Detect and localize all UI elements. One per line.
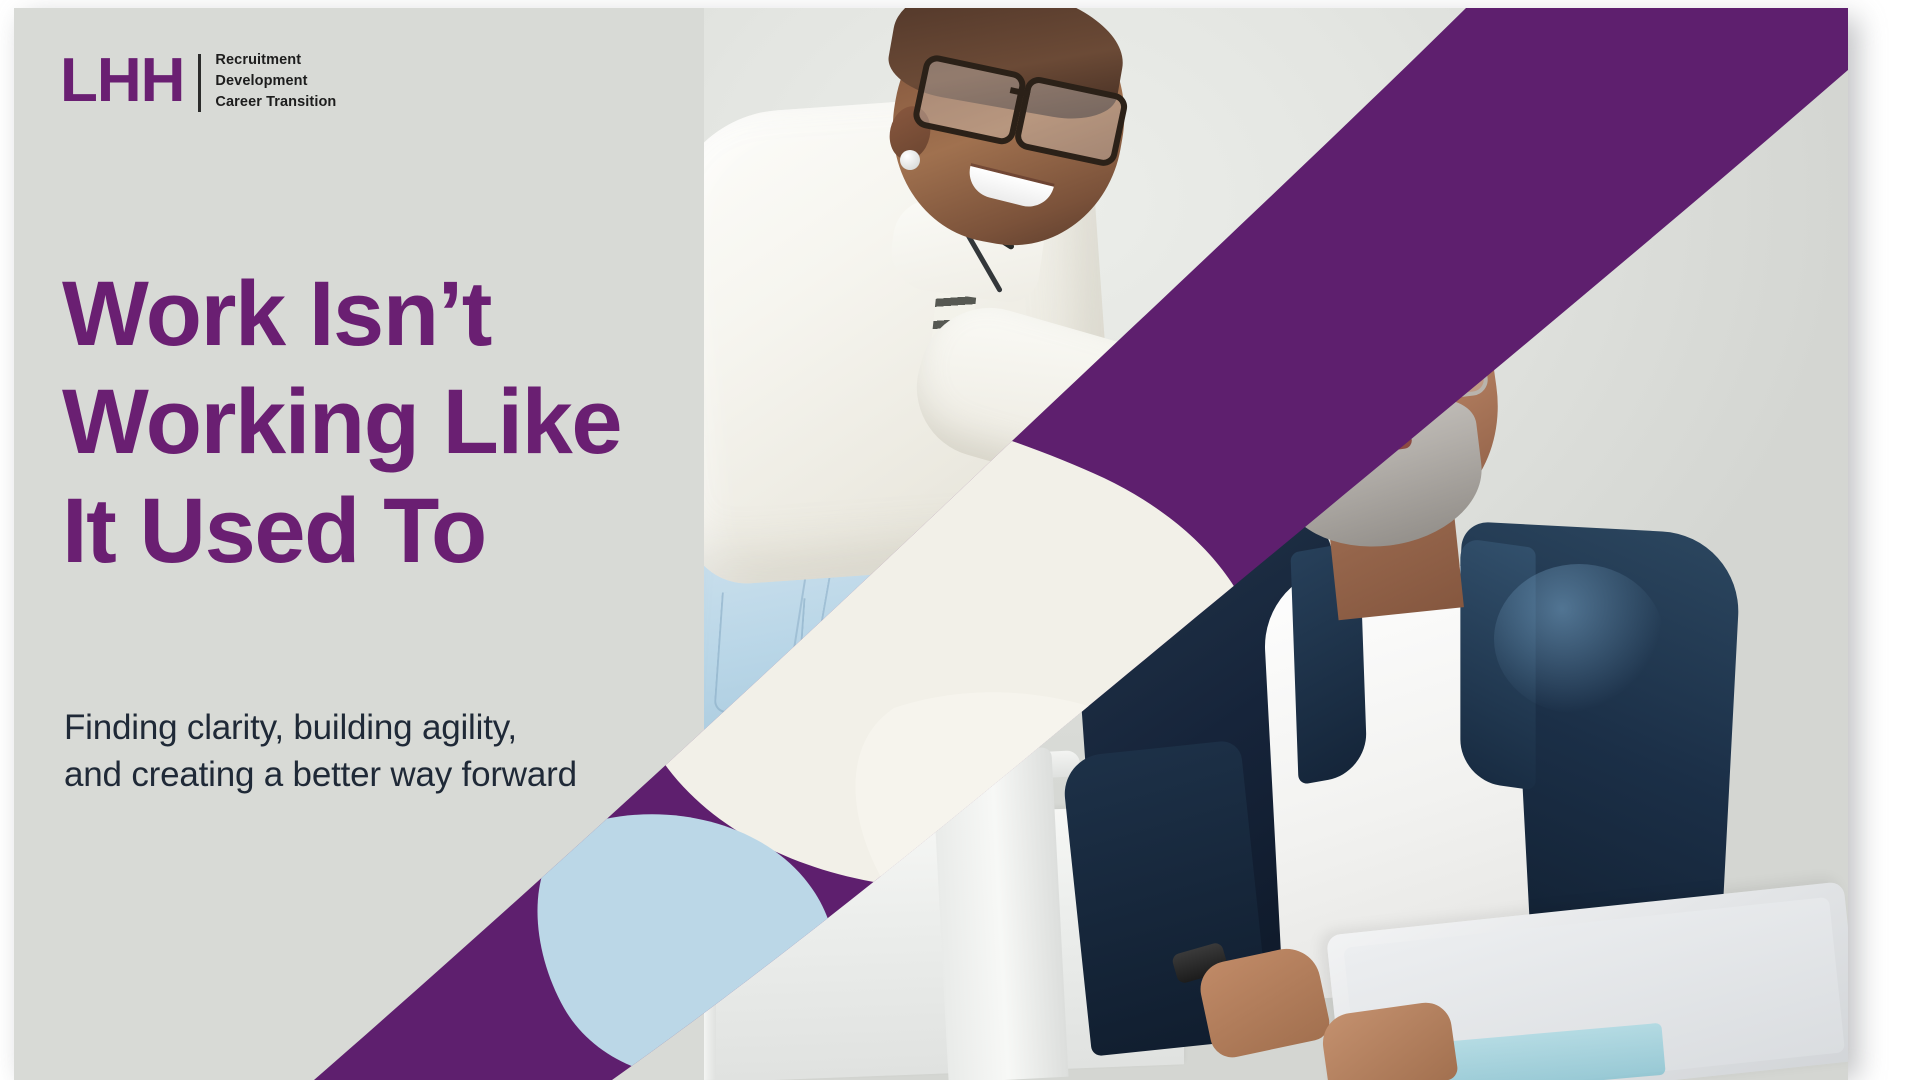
headline-line-3: It Used To — [62, 477, 822, 586]
subtitle-line-1: Finding clarity, building agility, — [64, 705, 804, 752]
eyeglass-lens-left — [1267, 338, 1379, 420]
logo-tagline-line-2: Development — [215, 71, 336, 92]
page-title: Work Isn’t Working Like It Used To — [62, 260, 822, 586]
jeans-pocket-right — [811, 578, 909, 689]
lhh-logo[interactable]: LHH Recruitment Development Career Trans… — [60, 50, 336, 113]
logo-tagline-line-3: Career Transition — [215, 92, 336, 113]
logo-divider — [198, 54, 201, 112]
office-chair — [931, 747, 1068, 1080]
logo-wordmark: LHH — [60, 56, 184, 107]
subtitle-line-2: and creating a better way forward — [64, 752, 804, 799]
headline-line-2: Working Like — [62, 368, 822, 477]
presentation-slide: LHH Recruitment Development Career Trans… — [14, 8, 1848, 1080]
hero-photo — [704, 8, 1848, 1080]
earring — [900, 150, 920, 170]
headline-line-1: Work Isn’t — [62, 260, 822, 369]
jacket-shoulder-highlight — [1494, 564, 1664, 714]
jeans-pocket-left — [713, 592, 805, 718]
logo-tagline: Recruitment Development Career Transitio… — [215, 50, 336, 113]
eyeglass-lens-right — [1378, 324, 1490, 406]
slide-canvas: LHH Recruitment Development Career Trans… — [0, 0, 1920, 1080]
logo-tagline-line-1: Recruitment — [215, 50, 336, 71]
desk-leg — [704, 865, 716, 1080]
page-subtitle: Finding clarity, building agility, and c… — [64, 705, 804, 799]
